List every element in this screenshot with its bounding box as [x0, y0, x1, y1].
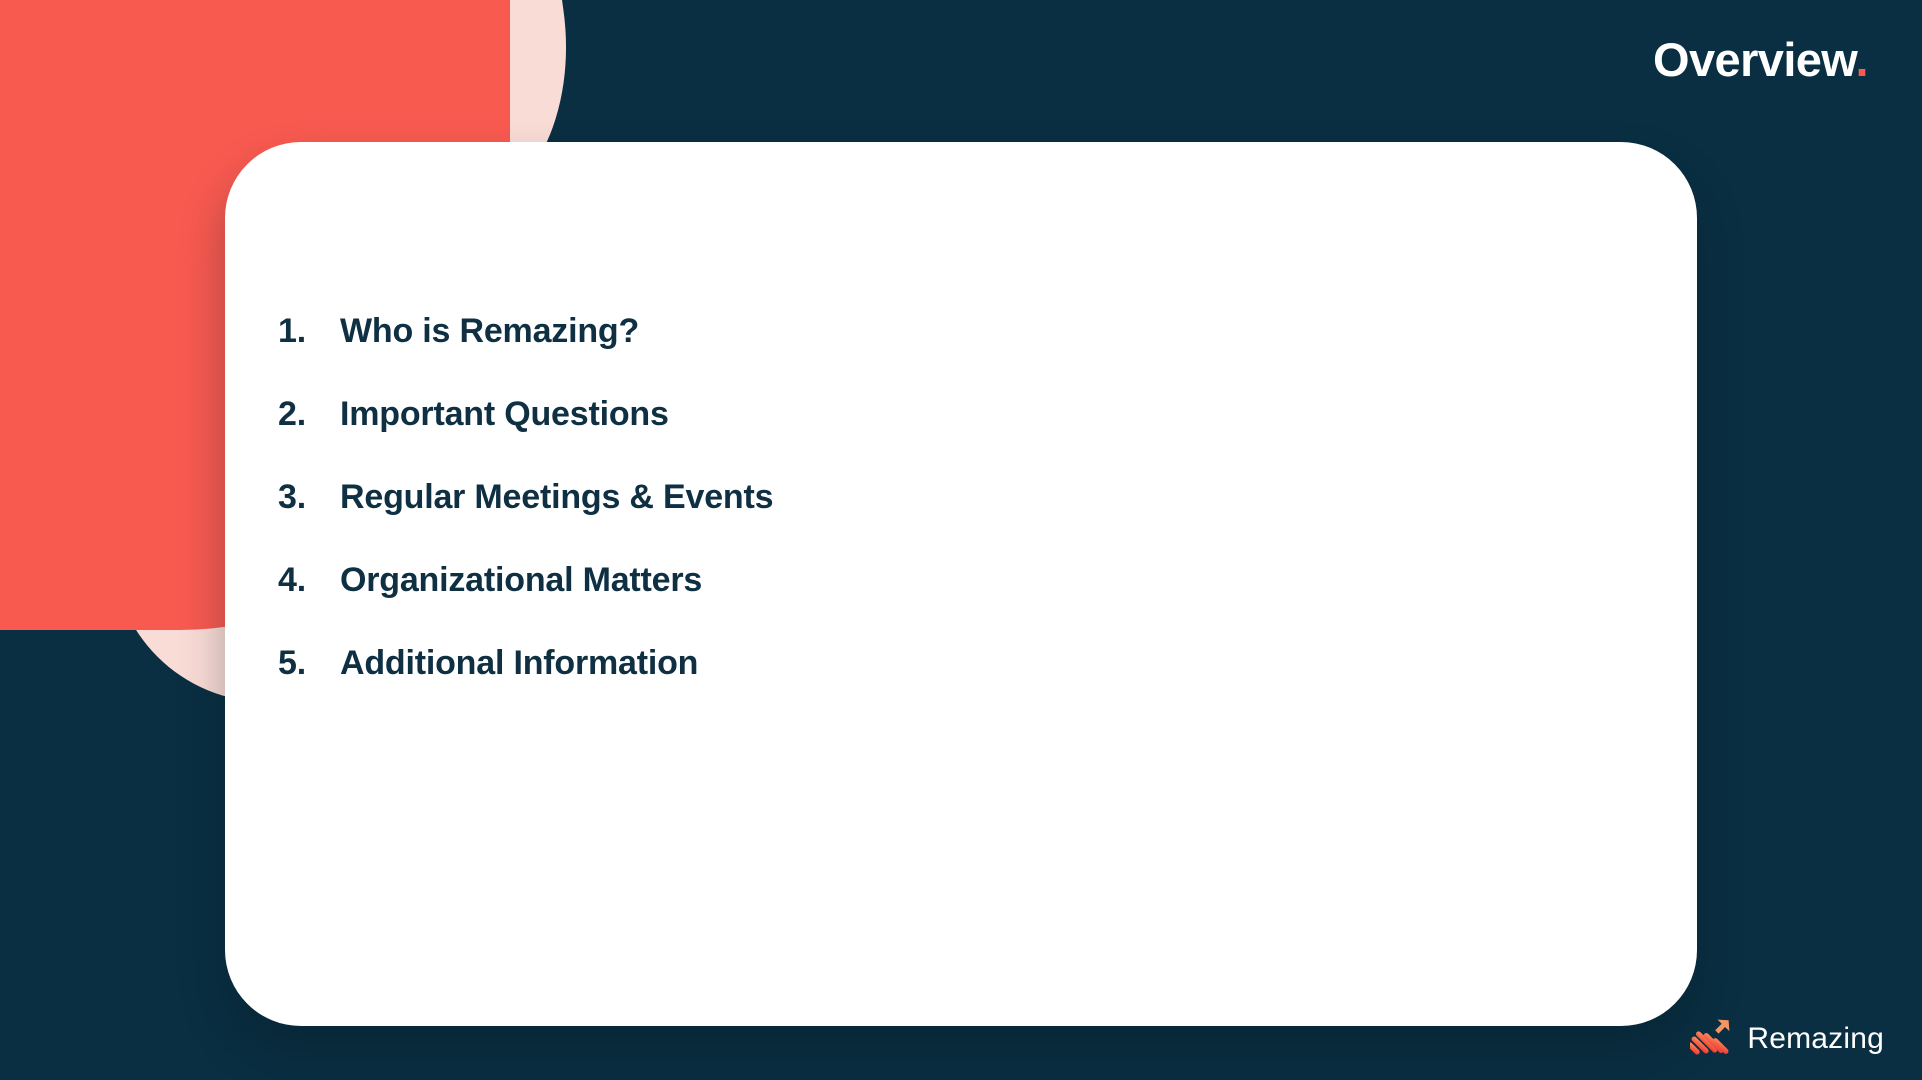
- presentation-slide: Overview. 1. Who is Remazing? 2. Importa…: [0, 0, 1922, 1080]
- agenda-item-number: 1.: [278, 312, 340, 351]
- agenda-item-number: 4.: [278, 561, 340, 600]
- slide-title-accent-dot: .: [1856, 33, 1868, 86]
- agenda-item-label: Regular Meetings & Events: [340, 478, 773, 517]
- agenda-item-number: 3.: [278, 478, 340, 517]
- slide-title-text: Overview: [1653, 33, 1855, 86]
- agenda-item[interactable]: 1. Who is Remazing?: [278, 312, 1378, 395]
- coral-accent-blob-tail: [0, 368, 190, 488]
- agenda-item-number: 5.: [278, 644, 340, 683]
- agenda-item[interactable]: 3. Regular Meetings & Events: [278, 478, 1378, 561]
- agenda-item-label: Who is Remazing?: [340, 312, 639, 351]
- agenda-item[interactable]: 5. Additional Information: [278, 644, 1378, 727]
- remazing-logo: Remazing: [1690, 1016, 1884, 1062]
- remazing-stripes-arrow-icon: [1690, 1018, 1734, 1060]
- agenda-item-number: 2.: [278, 395, 340, 434]
- agenda-list: 1. Who is Remazing? 2. Important Questio…: [278, 312, 1378, 727]
- remazing-wordmark: Remazing: [1747, 1024, 1884, 1054]
- agenda-item-label: Important Questions: [340, 395, 669, 434]
- agenda-item[interactable]: 4. Organizational Matters: [278, 561, 1378, 644]
- agenda-item[interactable]: 2. Important Questions: [278, 395, 1378, 478]
- slide-title: Overview.: [1653, 36, 1868, 83]
- agenda-item-label: Organizational Matters: [340, 561, 702, 600]
- agenda-item-label: Additional Information: [340, 644, 698, 683]
